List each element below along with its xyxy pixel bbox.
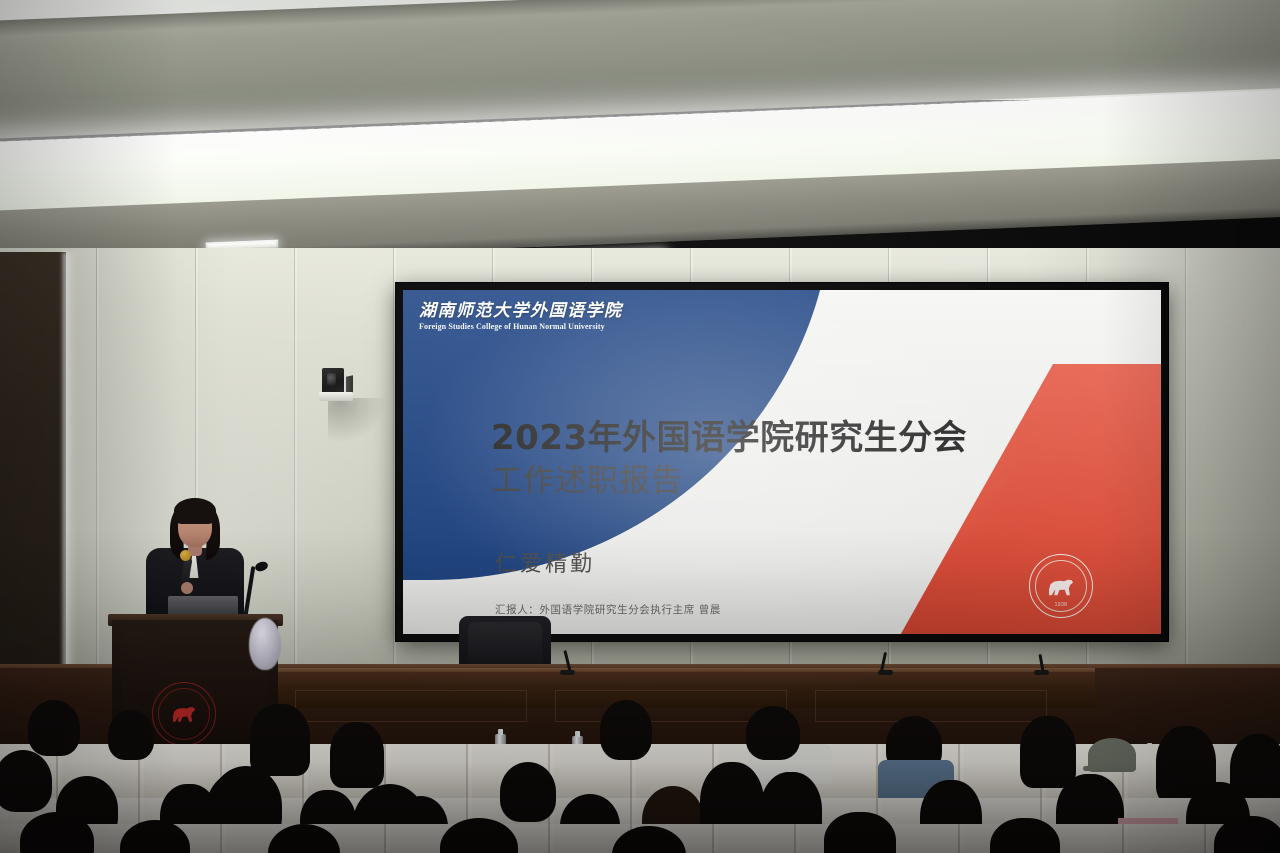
table-mic-base bbox=[560, 670, 575, 675]
audience-cap-icon bbox=[1088, 738, 1136, 772]
podium-side-lamp bbox=[249, 618, 281, 670]
audience-head bbox=[108, 710, 154, 760]
projection-screen[interactable]: 湖南师范大学外国语学院 Foreign Studies College of H… bbox=[396, 283, 1168, 641]
speaker-hand bbox=[181, 582, 193, 594]
slide-title-line2: 工作述职报告 bbox=[491, 455, 683, 500]
table-mic-base bbox=[878, 670, 893, 675]
wall-camera-icon bbox=[322, 368, 350, 402]
slide-motto: 仁爱精勤 bbox=[495, 546, 595, 578]
slide-title-line1: 2023年外国语学院研究生分会 bbox=[491, 410, 967, 459]
slide-red-wedge-shading bbox=[867, 364, 1161, 634]
audience-head bbox=[746, 706, 800, 760]
audience-head bbox=[500, 762, 556, 822]
college-brand-lockup: 湖南师范大学外国语学院 Foreign Studies College of H… bbox=[419, 302, 623, 331]
alcove-light-edge bbox=[63, 252, 77, 682]
seal-founded-year: 1938 bbox=[1030, 602, 1092, 608]
audience-head bbox=[600, 700, 652, 760]
university-seal-icon: 1938 bbox=[1029, 554, 1093, 618]
brand-chinese-name: 湖南师范大学外国语学院 bbox=[419, 302, 623, 319]
slide-canvas: 湖南师范大学外国语学院 Foreign Studies College of H… bbox=[403, 290, 1161, 634]
audience-head bbox=[1020, 716, 1076, 788]
seal-horse-emblem bbox=[1048, 576, 1074, 596]
table-mic-base bbox=[1034, 670, 1049, 675]
left-doorway-alcove bbox=[0, 252, 66, 682]
slide-presenter-line: 汇报人：外国语学院研究生分会执行主席 曾晨 bbox=[495, 602, 721, 617]
speaker-hair-top bbox=[174, 498, 216, 524]
audience-head bbox=[330, 722, 384, 788]
audience-head bbox=[28, 700, 80, 756]
audience-head bbox=[250, 704, 310, 776]
audience-area bbox=[0, 700, 1280, 853]
brand-english-name: Foreign Studies College of Hunan Normal … bbox=[419, 323, 623, 331]
audience-head bbox=[0, 750, 52, 812]
microphone-head-icon bbox=[180, 550, 191, 561]
conference-hall-photo: 湖南师范大学外国语学院 Foreign Studies College of H… bbox=[0, 0, 1280, 853]
